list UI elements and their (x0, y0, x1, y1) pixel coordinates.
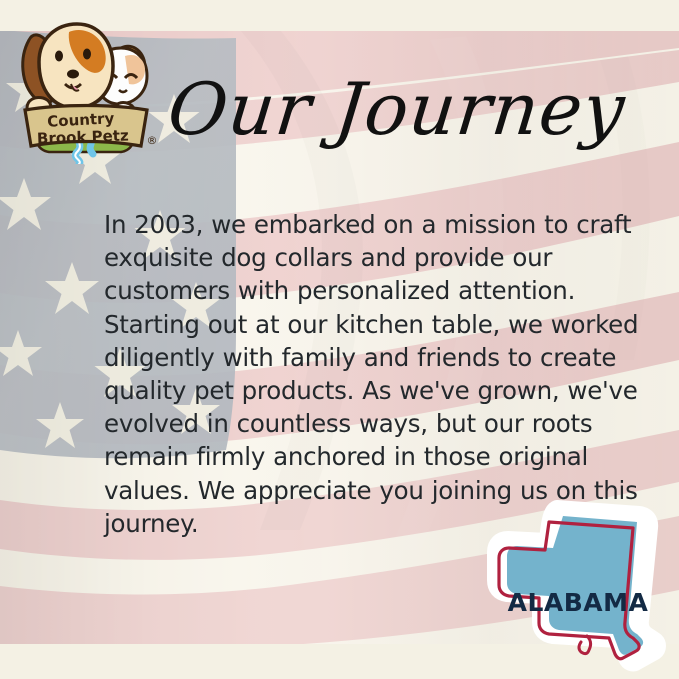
page-title: Our Journey (168, 58, 588, 162)
dog-eye-left-icon (55, 51, 63, 62)
country-brook-petz-logo: Country Brook Petz ® (9, 12, 161, 164)
page-title-text: Our Journey (164, 68, 629, 152)
title-script-graphic: Our Journey (168, 58, 588, 162)
logo-graphic: Country Brook Petz ® (9, 12, 161, 164)
alabama-sticker-graphic (487, 500, 679, 679)
about-paragraph: In 2003, we embarked on a mission to cra… (104, 208, 670, 540)
logo-trademark-icon: ® (147, 134, 158, 147)
poster-canvas: Country Brook Petz ® Our Journey In 2003… (0, 0, 679, 679)
status-badge[interactable]: ALABAMA (487, 500, 679, 679)
dog-eye-right-icon (83, 49, 91, 60)
logo-sign-line2: Brook Petz (37, 126, 130, 147)
dog-nose-icon (67, 70, 79, 79)
